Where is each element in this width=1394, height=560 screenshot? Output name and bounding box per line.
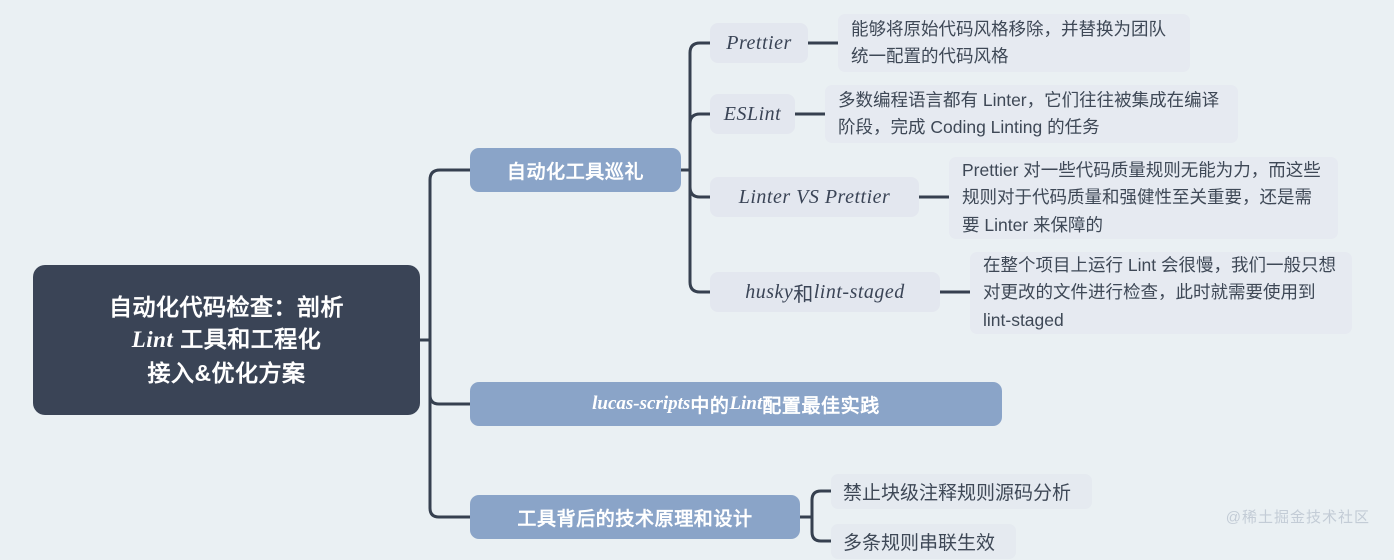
root-title-line-2: Lint 工具和工程化 xyxy=(132,323,322,357)
connector-sub1-lintervs xyxy=(690,170,710,197)
branch-label-lucas-scripts-term: lucas-scripts xyxy=(592,393,690,415)
desc-box-prettier: 能够将原始代码风格移除，并替换为团队统一配置的代码风格 xyxy=(838,14,1190,72)
leaf-node-prettier[interactable]: Prettier xyxy=(710,23,808,63)
root-title-line-3: 接入&优化方案 xyxy=(147,357,305,390)
branch-label-lucas-scripts-cn1: 中的 xyxy=(690,391,729,418)
leaf-label-chained-rules: 多条规则串联生效 xyxy=(843,528,995,555)
connector-trunk-branch3 xyxy=(430,340,470,517)
root-title-lint-term: Lint xyxy=(132,327,174,352)
root-title-line-1: 自动化代码检查：剖析 xyxy=(109,291,344,324)
leaf-node-eslint[interactable]: ESLint xyxy=(710,94,795,134)
branch-node-lucas-scripts[interactable]: lucas-scripts 中的 Lint 配置最佳实践 xyxy=(470,382,1002,426)
root-node[interactable]: 自动化代码检查：剖析 Lint 工具和工程化 接入&优化方案 xyxy=(33,265,420,415)
desc-text-husky-lint-staged: 在整个项目上运行 Lint 会很慢，我们一般只想对更改的文件进行检查，此时就需要… xyxy=(983,252,1339,333)
leaf-label-lint-staged: lint-staged xyxy=(814,281,905,304)
connector-sub1-prettier xyxy=(690,43,710,170)
root-title-line-2-rest: 工具和工程化 xyxy=(173,326,321,352)
leaf-node-chained-rules[interactable]: 多条规则串联生效 xyxy=(831,524,1016,559)
branch-label-lucas-scripts-lint-term: Lint xyxy=(730,393,763,415)
branch-node-automation-tools[interactable]: 自动化工具巡礼 xyxy=(470,148,681,192)
leaf-node-linter-vs-prettier[interactable]: Linter VS Prettier xyxy=(710,177,919,217)
branch-node-tech-principles[interactable]: 工具背后的技术原理和设计 xyxy=(470,495,800,539)
connector-trunk-branch2 xyxy=(430,340,470,404)
watermark: @稀土掘金技术社区 xyxy=(1226,506,1370,527)
connector-sub3-bottom xyxy=(812,517,831,541)
branch-label-tech-principles: 工具背后的技术原理和设计 xyxy=(517,504,752,531)
mindmap-canvas: 自动化代码检查：剖析 Lint 工具和工程化 接入&优化方案 自动化工具巡礼 P… xyxy=(0,0,1394,560)
leaf-node-block-comment-rule[interactable]: 禁止块级注释规则源码分析 xyxy=(831,474,1092,509)
connector-sub3-top xyxy=(812,491,831,517)
desc-text-prettier: 能够将原始代码风格移除，并替换为团队统一配置的代码风格 xyxy=(851,16,1177,70)
leaf-label-husky: husky xyxy=(745,281,793,304)
leaf-label-eslint: ESLint xyxy=(724,103,781,126)
branch-label-lucas-scripts-cn2: 配置最佳实践 xyxy=(762,391,880,418)
desc-box-eslint: 多数编程语言都有 Linter，它们往往被集成在编译阶段，完成 Coding L… xyxy=(825,85,1238,143)
desc-text-eslint: 多数编程语言都有 Linter，它们往往被集成在编译阶段，完成 Coding L… xyxy=(838,87,1225,141)
branch-label-automation-tools: 自动化工具巡礼 xyxy=(507,157,644,184)
leaf-node-husky-lint-staged[interactable]: husky 和 lint-staged xyxy=(710,272,940,312)
desc-box-husky-lint-staged: 在整个项目上运行 Lint 会很慢，我们一般只想对更改的文件进行检查，此时就需要… xyxy=(970,252,1352,334)
leaf-label-linter-vs-prettier: Linter VS Prettier xyxy=(739,186,891,209)
leaf-label-block-comment-rule: 禁止块级注释规则源码分析 xyxy=(843,478,1071,505)
connector-sub1-eslint xyxy=(690,114,710,170)
leaf-label-husky-conjunction: 和 xyxy=(793,278,814,307)
connector-trunk-branch1 xyxy=(430,170,470,340)
desc-text-linter-vs-prettier: Prettier 对一些代码质量规则无能为力，而这些规则对于代码质量和强健性至关… xyxy=(962,157,1325,238)
leaf-label-prettier: Prettier xyxy=(726,32,791,55)
connector-sub1-husky xyxy=(690,170,710,292)
desc-box-linter-vs-prettier: Prettier 对一些代码质量规则无能为力，而这些规则对于代码质量和强健性至关… xyxy=(949,157,1338,239)
